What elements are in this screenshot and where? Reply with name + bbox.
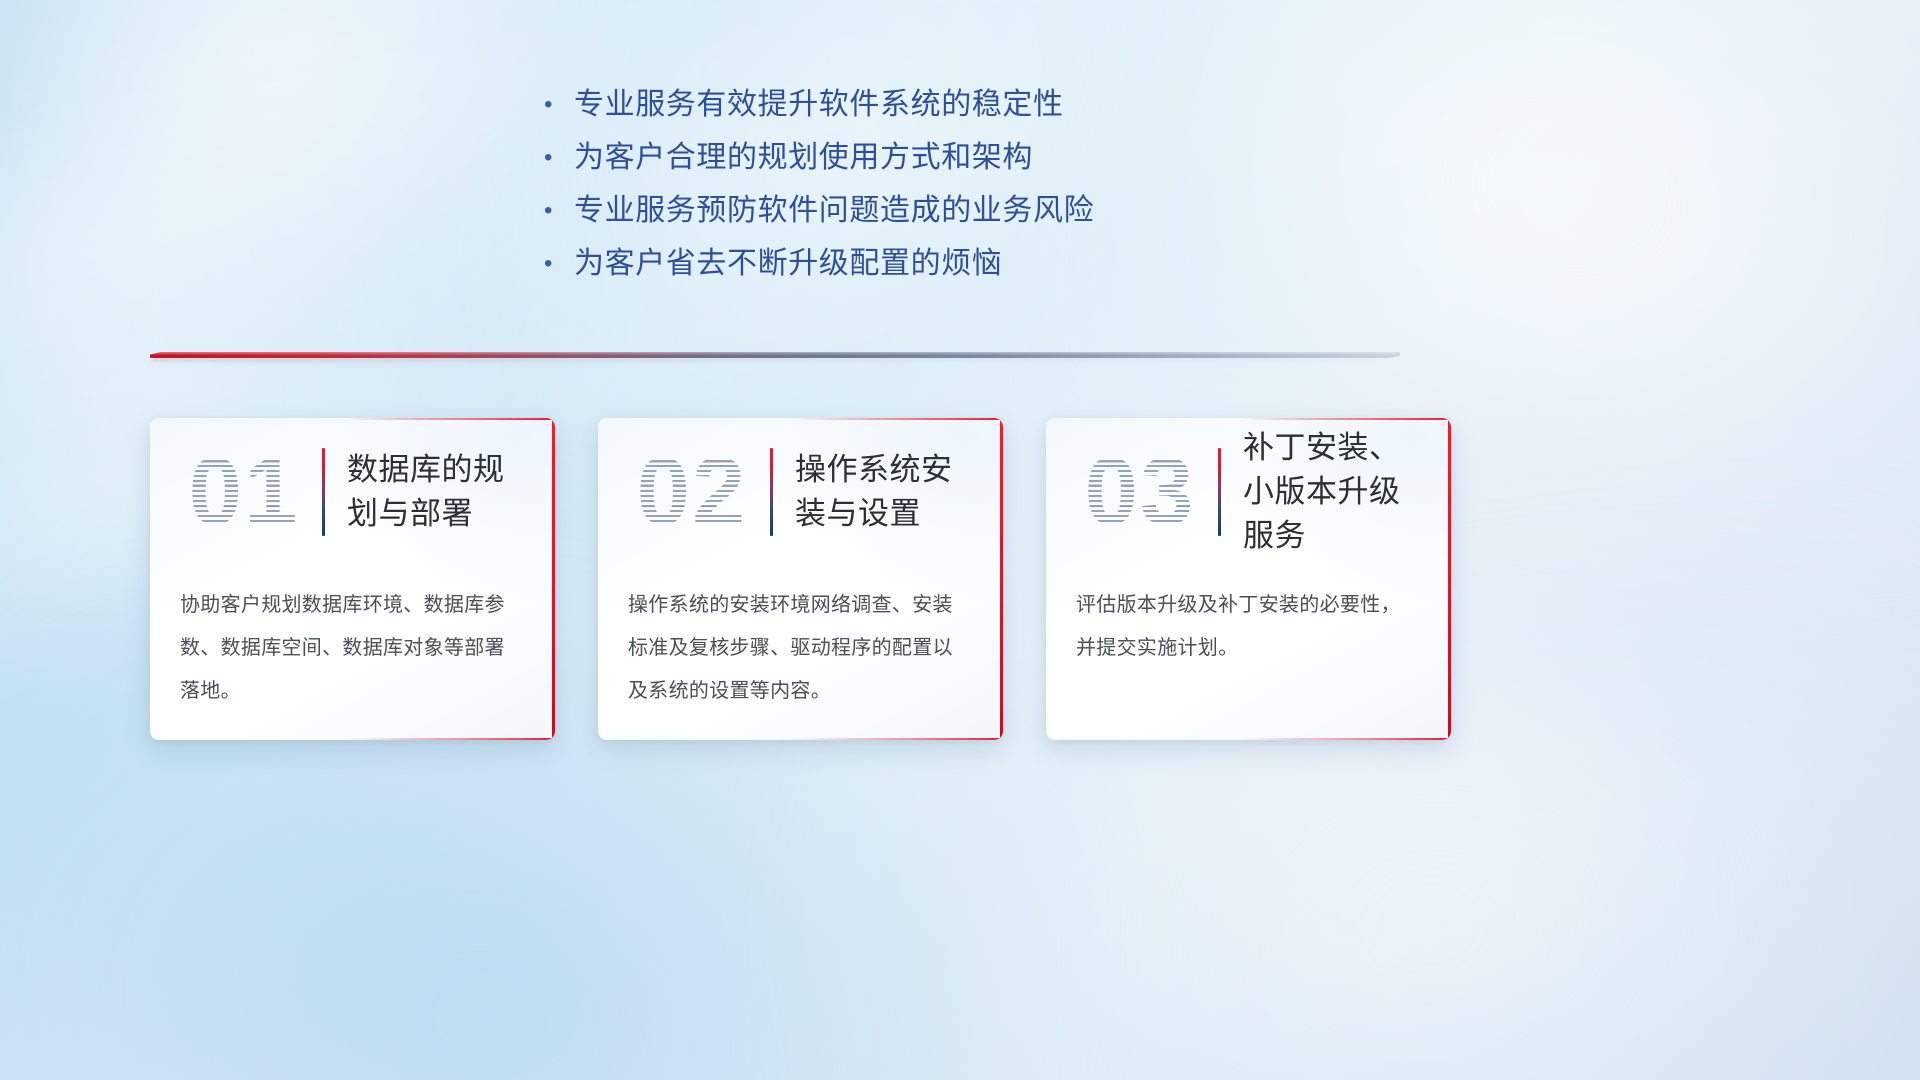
divider-line <box>150 352 1400 358</box>
bullet-text: 专业服务预防软件问题造成的业务风险 <box>574 194 1094 228</box>
card-vertical-divider <box>1218 448 1221 536</box>
card-title: 数据库的规划与部署 <box>347 448 533 536</box>
bullet-dot-icon: • <box>540 247 574 281</box>
card-description: 操作系统的安装环境网络调查、安装标准及复核步骤、驱动程序的配置以及系统的设置等内… <box>598 566 1003 713</box>
card-vertical-divider <box>322 448 325 536</box>
slide-canvas: • 专业服务有效提升软件系统的稳定性 • 为客户合理的规划使用方式和架构 • 专… <box>0 0 1920 1080</box>
card-red-accent-bottom <box>1240 738 1451 740</box>
card-title: 补丁安装、小版本升级服务 <box>1243 426 1429 558</box>
list-item: • 为客户合理的规划使用方式和架构 <box>540 141 1360 175</box>
card-number: 01 <box>168 440 320 544</box>
service-card[interactable]: 01 数据库的规划与部署 协助客户规划数据库环境、数据库参数、数据库空间、数据库… <box>150 418 555 740</box>
list-item: • 专业服务预防软件问题造成的业务风险 <box>540 194 1360 228</box>
service-card[interactable]: 02 操作系统安装与设置 操作系统的安装环境网络调查、安装标准及复核步骤、驱动程… <box>598 418 1003 740</box>
bullet-dot-icon: • <box>540 141 574 175</box>
bullet-text: 专业服务有效提升软件系统的稳定性 <box>574 88 1064 122</box>
card-header: 02 操作系统安装与设置 <box>598 418 1003 566</box>
card-header: 03 补丁安装、小版本升级服务 <box>1046 418 1451 566</box>
card-number: 02 <box>616 440 768 544</box>
bullet-text: 为客户合理的规划使用方式和架构 <box>574 141 1033 175</box>
card-red-accent-bottom <box>344 738 555 740</box>
card-red-accent-bottom <box>792 738 1003 740</box>
card-description: 协助客户规划数据库环境、数据库参数、数据库空间、数据库对象等部署落地。 <box>150 566 555 713</box>
card-number: 03 <box>1064 440 1216 544</box>
service-card[interactable]: 03 补丁安装、小版本升级服务 评估版本升级及补丁安装的必要性，并提交实施计划。 <box>1046 418 1451 740</box>
card-description: 评估版本升级及补丁安装的必要性，并提交实施计划。 <box>1046 566 1451 670</box>
bullet-text: 为客户省去不断升级配置的烦恼 <box>574 247 1002 281</box>
bullet-dot-icon: • <box>540 194 574 228</box>
benefits-bullet-list: • 专业服务有效提升软件系统的稳定性 • 为客户合理的规划使用方式和架构 • 专… <box>540 88 1360 300</box>
card-header: 01 数据库的规划与部署 <box>150 418 555 566</box>
card-vertical-divider <box>770 448 773 536</box>
service-card-group: 01 数据库的规划与部署 协助客户规划数据库环境、数据库参数、数据库空间、数据库… <box>150 418 1770 748</box>
divider-shadow <box>152 358 1390 361</box>
bullet-dot-icon: • <box>540 88 574 122</box>
section-divider <box>150 348 1400 362</box>
card-title: 操作系统安装与设置 <box>795 448 981 536</box>
list-item: • 为客户省去不断升级配置的烦恼 <box>540 247 1360 281</box>
list-item: • 专业服务有效提升软件系统的稳定性 <box>540 88 1360 122</box>
